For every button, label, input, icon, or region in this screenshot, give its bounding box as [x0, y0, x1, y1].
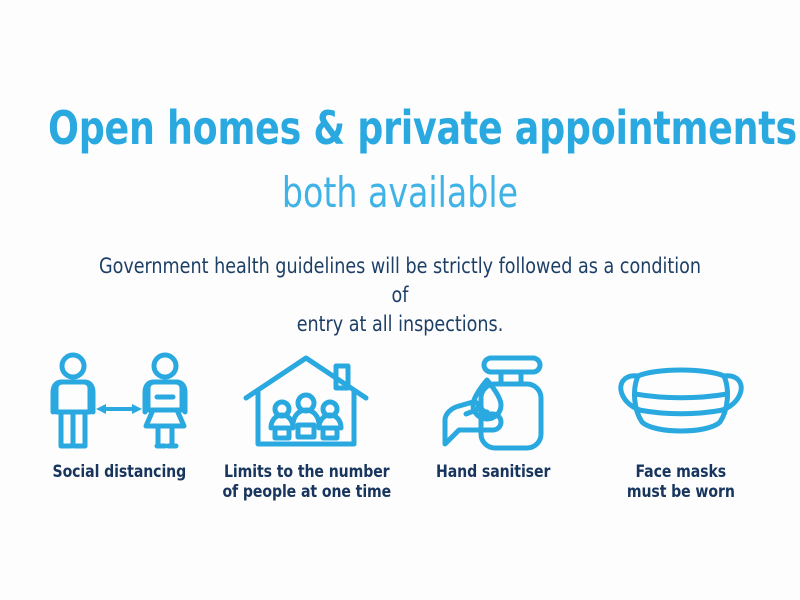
social-distancing-icon: [44, 350, 194, 452]
safety-measure-face-mask: Face masks must be worn: [588, 350, 774, 502]
page-title: Open homes & private appointments both a…: [0, 102, 800, 216]
body-copy-line-1: Government health guidelines will be str…: [93, 252, 707, 310]
headline-secondary: both available: [48, 170, 752, 216]
safety-measure-occupancy-limit: Limits to the number of people at one ti…: [213, 350, 399, 502]
safety-measure-caption: Hand sanitiser: [433, 462, 553, 482]
caption-line: Social distancing: [52, 462, 186, 482]
caption-line: Face masks: [627, 462, 735, 482]
body-copy-line-2: entry at all inspections.: [93, 310, 707, 339]
safety-measures-row: Social distancing: [0, 350, 800, 502]
caption-line: of people at one time: [222, 482, 391, 502]
body-copy: Government health guidelines will be str…: [70, 252, 730, 339]
headline-primary: Open homes & private appointments: [48, 102, 752, 154]
face-mask-icon: [616, 350, 746, 452]
covid-safety-poster: Open homes & private appointments both a…: [0, 0, 800, 600]
safety-measure-caption: Social distancing: [49, 462, 190, 482]
caption-line: Limits to the number: [222, 462, 391, 482]
caption-line: must be worn: [627, 482, 735, 502]
safety-measure-social-distancing: Social distancing: [26, 350, 212, 502]
hand-sanitiser-icon: [435, 350, 553, 452]
caption-line: Hand sanitiser: [436, 462, 550, 482]
safety-measure-hand-sanitiser: Hand sanitiser: [401, 350, 587, 502]
house-with-people-icon: [242, 350, 370, 452]
safety-measure-caption: Face masks must be worn: [624, 462, 738, 502]
safety-measure-caption: Limits to the number of people at one ti…: [218, 462, 396, 502]
